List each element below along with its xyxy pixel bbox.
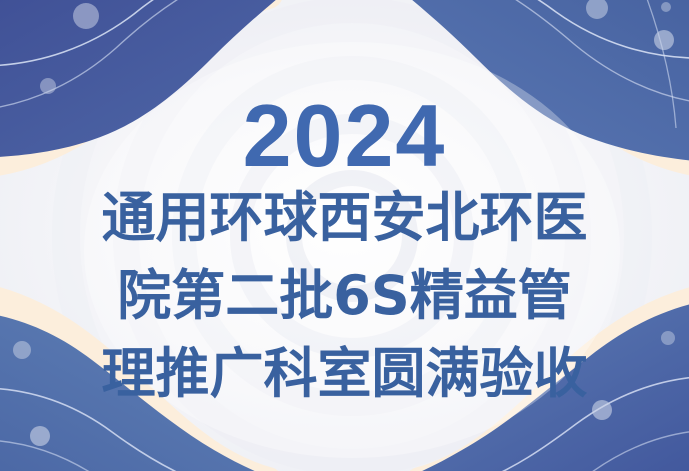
decorative-dot (661, 331, 675, 345)
decorative-dot (592, 400, 612, 420)
decorative-dot (654, 30, 674, 50)
decorative-dot (13, 341, 31, 359)
decorative-dot (73, 3, 99, 29)
decorative-dot (30, 426, 50, 446)
decorative-background (0, 0, 689, 471)
center-veil (84, 42, 620, 458)
decorative-dot (661, 2, 671, 12)
decorative-dot (40, 78, 56, 94)
poster-canvas: 2024 通用环球西安北环医 院第二批6S精益管 理推广科室圆满验收 (0, 0, 689, 471)
